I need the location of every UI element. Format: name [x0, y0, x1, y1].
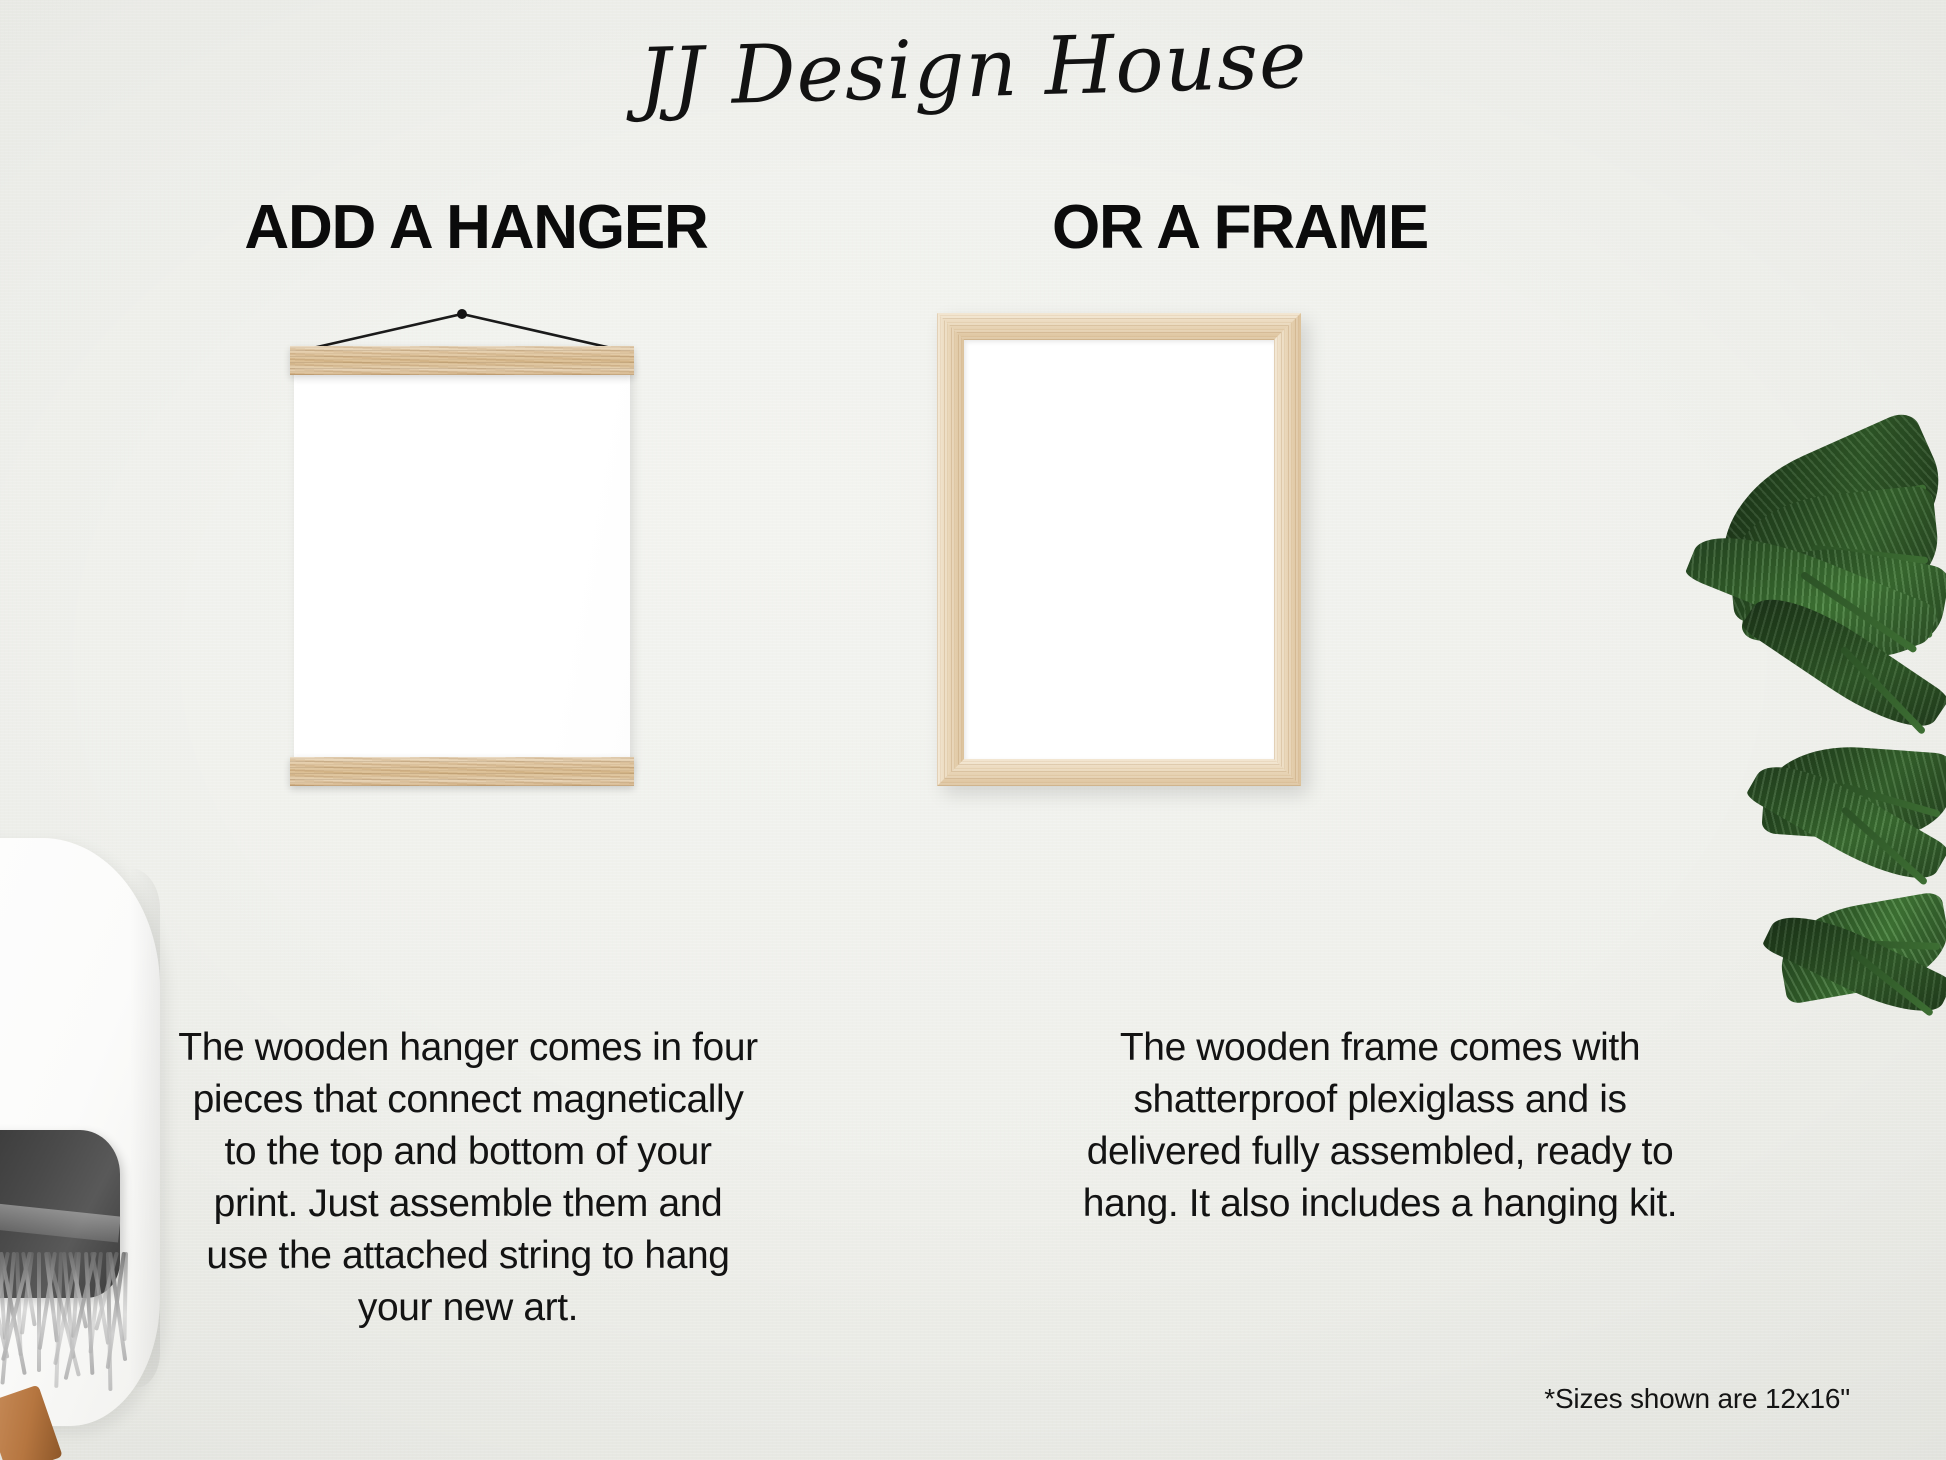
wooden-frame-mockup	[937, 313, 1301, 786]
hanger-bar-top	[290, 346, 634, 375]
frame-rail-bottom	[937, 759, 1301, 786]
poster-with-hanger-mockup	[290, 310, 634, 786]
blanket-fringe	[0, 1252, 144, 1452]
heading-add-a-hanger: ADD A HANGER	[96, 192, 856, 263]
heading-or-a-frame: OR A FRAME	[860, 192, 1620, 263]
size-footnote: *Sizes shown are 12x16"	[1544, 1383, 1850, 1415]
fringe-strand	[122, 1252, 128, 1341]
hanger-bar-bottom	[290, 757, 634, 786]
frame-rail-top	[937, 313, 1301, 340]
fringe-strand	[37, 1252, 41, 1372]
description-hanger: The wooden hanger comes in four pieces t…	[178, 1022, 758, 1334]
product-info-graphic: JJ Design House ADD A HANGER OR A FRAME …	[0, 0, 1946, 1460]
poster-print-sheet	[294, 358, 630, 770]
blanket-stripe	[0, 1192, 121, 1243]
palm-plant	[1636, 392, 1946, 1082]
description-frame: The wooden frame comes with shatterproof…	[1060, 1022, 1700, 1230]
hanger-string	[290, 310, 634, 350]
frame-print-area	[964, 340, 1274, 759]
frame-rail-right	[1274, 313, 1301, 786]
frame-rail-left	[937, 313, 964, 786]
